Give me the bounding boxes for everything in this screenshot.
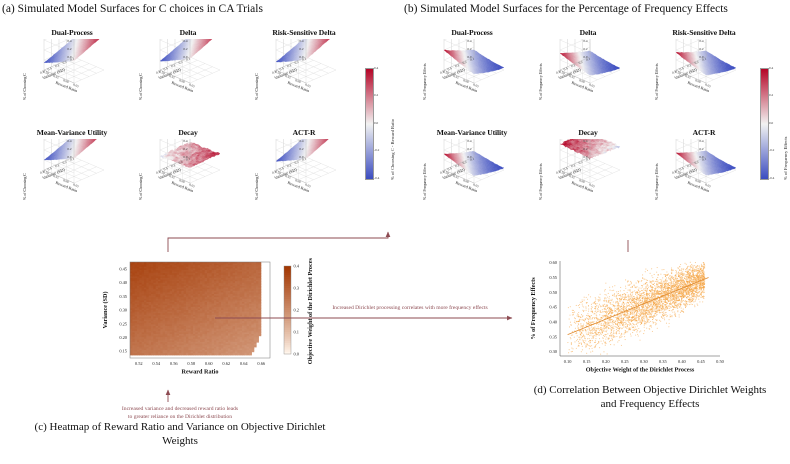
z-axis-label: % of Frequency Effects xyxy=(422,64,427,101)
svg-text:Variance (SD): Variance (SD) xyxy=(273,67,298,81)
svg-text:Variance (SD): Variance (SD) xyxy=(557,67,582,81)
colorbar-tick: -0.2 xyxy=(769,148,774,152)
z-axis-label: % of Frequency Effects xyxy=(538,164,543,201)
colorbar-tick: -0.2 xyxy=(374,148,379,152)
caption-d: (d) Correlation Between Objective Dirich… xyxy=(525,383,775,411)
colorbar-label: % of Frequency Effects xyxy=(783,137,788,180)
svg-text:0.4: 0.4 xyxy=(583,39,587,43)
svg-text:0.2: 0.2 xyxy=(183,47,187,51)
svg-text:0.2: 0.2 xyxy=(299,147,303,151)
annotation-correlation: Increased Dirichlet processing correlate… xyxy=(300,305,520,313)
subplot-title: Decay xyxy=(534,128,642,137)
subplot-title: Risk-Sensitive Delta xyxy=(250,28,358,37)
subplot-dual-process: Dual-Process0.00.20.40.60.81.00.10.20.30… xyxy=(18,28,126,124)
svg-text:0.4: 0.4 xyxy=(467,39,471,43)
surface-canvas: 0.00.20.40.60.81.00.10.20.30.40.50.500.5… xyxy=(650,139,758,224)
panel-a-title: (a) Simulated Model Surfaces for C choic… xyxy=(2,3,263,15)
subplot-title: Decay xyxy=(134,128,242,137)
svg-text:0.4: 0.4 xyxy=(183,39,187,43)
subplot-decay: Decay0.00.20.40.60.81.00.10.20.30.40.50.… xyxy=(134,128,242,224)
colorbar-tick: 0.2 xyxy=(769,93,773,97)
subplot-title: Mean-Variance Utility xyxy=(18,128,126,137)
surface-canvas: 0.00.20.40.60.81.00.10.20.30.40.50.500.5… xyxy=(534,139,642,224)
colorbar-panel-b: 0.40.20.0-0.2-0.4% of Frequency Effects xyxy=(758,68,790,188)
subplot-title: Delta xyxy=(134,28,242,37)
svg-text:0.2: 0.2 xyxy=(67,47,71,51)
subplot-risk-sensitive-delta: Risk-Sensitive Delta0.00.20.40.60.81.00.… xyxy=(650,28,758,124)
subplot-title: ACT-R xyxy=(650,128,758,137)
caption-c: (c) Heatmap of Reward Ratio and Variance… xyxy=(30,420,330,448)
subplot-mean-variance-utility: Mean-Variance Utility0.00.20.40.60.81.00… xyxy=(18,128,126,224)
subplot-delta: Delta0.00.20.40.60.81.00.10.20.30.40.50.… xyxy=(134,28,242,124)
colorbar-tick: 0.0 xyxy=(374,121,378,125)
z-axis-label: % of Choosing C xyxy=(22,73,27,100)
svg-text:0.4: 0.4 xyxy=(299,39,303,43)
svg-text:0.4: 0.4 xyxy=(67,139,71,143)
surface-canvas: 0.00.20.40.60.81.00.10.20.30.40.50.500.5… xyxy=(18,139,126,224)
subplot-act-r: ACT-R0.00.20.40.60.81.00.10.20.30.40.50.… xyxy=(650,128,758,224)
colorbar-tick: 0.4 xyxy=(769,66,773,70)
svg-text:Variance (SD): Variance (SD) xyxy=(41,67,66,81)
heatmap-field xyxy=(130,262,261,355)
annotation-heatmap: Increased variance and decreased reward … xyxy=(55,406,305,421)
subplot-title: Dual-Process xyxy=(418,28,526,37)
z-axis-label: % of Choosing C xyxy=(22,173,27,200)
panel-b-surface-grid: Dual-Process0.00.20.40.60.81.00.10.20.30… xyxy=(418,28,758,223)
z-axis-label: % of Frequency Effects xyxy=(654,64,659,101)
surface-canvas: 0.00.20.40.60.81.00.10.20.30.40.50.500.5… xyxy=(250,139,358,224)
scatter-chart: 0.100.150.200.250.300.350.400.450.500.30… xyxy=(520,255,745,385)
colorbar-gradient xyxy=(365,68,374,180)
panel-b-title: (b) Simulated Model Surfaces for the Per… xyxy=(404,3,728,15)
svg-text:0.4: 0.4 xyxy=(699,39,703,43)
panel-a-surface-grid: Dual-Process0.00.20.40.60.81.00.10.20.30… xyxy=(18,28,358,223)
subplot-act-r: ACT-R0.00.20.40.60.81.00.10.20.30.40.50.… xyxy=(250,128,358,224)
z-axis-label: % of Frequency Effects xyxy=(654,164,659,201)
surface-canvas: 0.00.20.40.60.81.00.10.20.30.40.50.500.5… xyxy=(250,39,358,124)
z-axis-label: % of Choosing C xyxy=(254,173,259,200)
heatmap-chart: 0.520.540.560.580.600.620.640.660.150.20… xyxy=(96,258,331,383)
surface-canvas: 0.00.20.40.60.81.00.10.20.30.40.50.500.5… xyxy=(534,39,642,124)
z-axis-label: % of Choosing C xyxy=(138,173,143,200)
subplot-mean-variance-utility: Mean-Variance Utility0.00.20.40.60.81.00… xyxy=(418,128,526,224)
annotation-heatmap-line1: Increased variance and decreased reward … xyxy=(55,406,305,414)
svg-text:0.2: 0.2 xyxy=(583,47,587,51)
surface-canvas: 0.00.20.40.60.81.00.10.20.30.40.50.500.5… xyxy=(650,39,758,124)
subplot-decay: Decay0.00.20.40.60.81.00.10.20.30.40.50.… xyxy=(534,128,642,224)
surface-canvas: 0.00.20.40.60.81.00.10.20.30.40.50.500.5… xyxy=(418,39,526,124)
colorbar-tick: -0.4 xyxy=(374,176,379,180)
svg-text:Variance (SD): Variance (SD) xyxy=(157,67,182,81)
colorbar-tick: 0.0 xyxy=(769,121,773,125)
subplot-title: ACT-R xyxy=(250,128,358,137)
z-axis-label: % of Frequency Effects xyxy=(538,64,543,101)
svg-text:Variance (SD): Variance (SD) xyxy=(673,67,698,81)
svg-text:0.2: 0.2 xyxy=(62,160,68,165)
subplot-risk-sensitive-delta: Risk-Sensitive Delta0.00.20.40.60.81.00.… xyxy=(250,28,358,124)
z-axis-label: % of Choosing C xyxy=(138,73,143,100)
subplot-title: Risk-Sensitive Delta xyxy=(650,28,758,37)
svg-text:Variance (SD): Variance (SD) xyxy=(157,167,182,181)
colorbar-tick: 0.2 xyxy=(374,93,378,97)
subplot-title: Dual-Process xyxy=(18,28,126,37)
svg-text:0.4: 0.4 xyxy=(67,39,71,43)
svg-text:0.2: 0.2 xyxy=(67,147,71,151)
svg-text:0.2: 0.2 xyxy=(183,147,187,151)
colorbar-gradient xyxy=(760,68,769,180)
colorbar-tick: -0.4 xyxy=(769,176,774,180)
z-axis-label: % of Choosing C xyxy=(254,73,259,100)
colorbar-panel-a: 0.40.20.0-0.2-0.4% of Choosing C - Rewar… xyxy=(363,68,408,188)
svg-text:0.2: 0.2 xyxy=(294,160,300,165)
subplot-title: Mean-Variance Utility xyxy=(418,128,526,137)
svg-text:0.2: 0.2 xyxy=(299,47,303,51)
svg-text:0.4: 0.4 xyxy=(299,139,303,143)
scatter-points xyxy=(567,262,705,355)
subplot-dual-process: Dual-Process0.00.20.40.60.81.00.10.20.30… xyxy=(418,28,526,124)
svg-text:Variance (SD): Variance (SD) xyxy=(273,167,298,181)
svg-text:0.2: 0.2 xyxy=(467,47,471,51)
surface-canvas: 0.00.20.40.60.81.00.10.20.30.40.50.500.5… xyxy=(418,139,526,224)
svg-text:0.2: 0.2 xyxy=(178,60,184,65)
z-axis-label: % of Frequency Effects xyxy=(422,164,427,201)
svg-text:0.2: 0.2 xyxy=(294,60,300,65)
surface-canvas: 0.00.20.40.60.81.00.10.20.30.40.50.500.5… xyxy=(134,139,242,224)
surface-canvas: 0.00.20.40.60.81.00.10.20.30.40.50.500.5… xyxy=(18,39,126,124)
surface-canvas: 0.00.20.40.60.81.00.10.20.30.40.50.500.5… xyxy=(134,39,242,124)
svg-text:0.2: 0.2 xyxy=(699,47,703,51)
colorbar-label: % of Choosing C - Reward Ratio xyxy=(390,119,395,180)
svg-text:0.4: 0.4 xyxy=(183,139,187,143)
subplot-delta: Delta0.00.20.40.60.81.00.10.20.30.40.50.… xyxy=(534,28,642,124)
colorbar-tick: 0.4 xyxy=(374,66,378,70)
svg-text:Variance (SD): Variance (SD) xyxy=(41,167,66,181)
subplot-title: Delta xyxy=(534,28,642,37)
svg-text:Variance (SD): Variance (SD) xyxy=(441,67,466,81)
